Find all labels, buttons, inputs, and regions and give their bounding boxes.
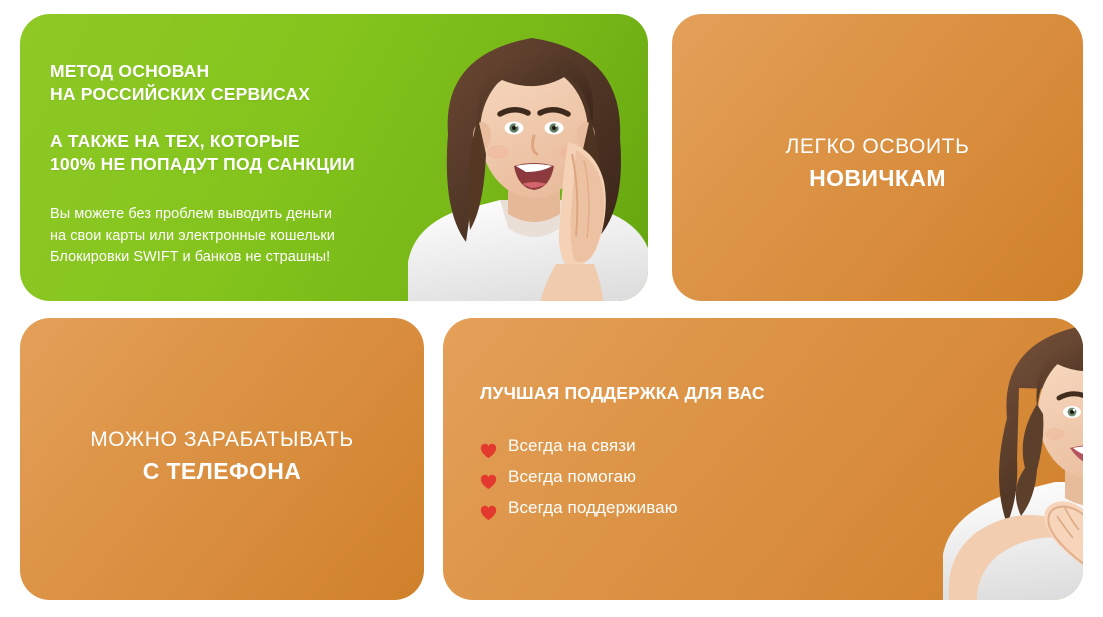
benefits-headline-1-line-1: МЕТОД ОСНОВАН bbox=[50, 61, 209, 81]
benefits-card: МЕТОД ОСНОВАН НА РОССИЙСКИХ СЕРВИСАХ А Т… bbox=[20, 14, 648, 301]
heart-icon bbox=[480, 438, 497, 454]
benefits-headline-2-line-1: А ТАКЖЕ НА ТЕХ, КОТОРЫЕ bbox=[50, 131, 300, 151]
support-copy: ЛУЧШАЯ ПОДДЕРЖКА ДЛЯ ВАС Всегда на связи… bbox=[480, 382, 810, 523]
support-bullet-label: Всегда на связи bbox=[508, 430, 636, 461]
heart-icon bbox=[480, 469, 497, 485]
benefits-copy: МЕТОД ОСНОВАН НА РОССИЙСКИХ СЕРВИСАХ А Т… bbox=[50, 60, 430, 269]
support-bullet-label: Всегда помогаю bbox=[508, 461, 636, 492]
beginners-card: ЛЕГКО ОСВОИТЬ НОВИЧКАМ bbox=[672, 14, 1083, 301]
list-item: Всегда поддерживаю bbox=[480, 492, 810, 523]
benefits-headline-2: А ТАКЖЕ НА ТЕХ, КОТОРЫЕ 100% НЕ ПОПАДУТ … bbox=[50, 130, 430, 176]
support-bullet-label: Всегда поддерживаю bbox=[508, 492, 678, 523]
beginners-line-thin: ЛЕГКО ОСВОИТЬ bbox=[672, 132, 1083, 162]
phone-copy: МОЖНО ЗАРАБАТЫВАТЬ С ТЕЛЕФОНА bbox=[20, 425, 424, 487]
list-item: Всегда помогаю bbox=[480, 461, 810, 492]
support-bullet-list: Всегда на связи Всегда помогаю Всегда по… bbox=[480, 430, 810, 523]
benefits-body-text: Вы можете без проблем выводить деньги на… bbox=[50, 204, 430, 269]
promo-board: МЕТОД ОСНОВАН НА РОССИЙСКИХ СЕРВИСАХ А Т… bbox=[0, 0, 1103, 617]
benefits-body-line-1: Вы можете без проблем выводить деньги bbox=[50, 206, 332, 222]
beginners-line-bold: НОВИЧКАМ bbox=[672, 162, 1083, 194]
heart-icon bbox=[480, 500, 497, 516]
phone-line-bold: С ТЕЛЕФОНА bbox=[20, 455, 424, 487]
support-title: ЛУЧШАЯ ПОДДЕРЖКА ДЛЯ ВАС bbox=[480, 382, 810, 404]
benefits-body-line-2: на свои карты или электронные кошельки bbox=[50, 228, 335, 244]
benefits-headline-2-line-2: 100% НЕ ПОПАДУТ ПОД САНКЦИИ bbox=[50, 154, 355, 174]
benefits-body-line-3: Блокировки SWIFT и банков не страшны! bbox=[50, 249, 330, 265]
smiling-woman-heart-hands-photo bbox=[933, 318, 1083, 600]
list-item: Всегда на связи bbox=[480, 430, 810, 461]
benefits-headline-1-line-2: НА РОССИЙСКИХ СЕРВИСАХ bbox=[50, 84, 310, 104]
benefits-headline-1: МЕТОД ОСНОВАН НА РОССИЙСКИХ СЕРВИСАХ bbox=[50, 60, 430, 106]
phone-line-thin: МОЖНО ЗАРАБАТЫВАТЬ bbox=[20, 425, 424, 455]
beginners-copy: ЛЕГКО ОСВОИТЬ НОВИЧКАМ bbox=[672, 132, 1083, 194]
